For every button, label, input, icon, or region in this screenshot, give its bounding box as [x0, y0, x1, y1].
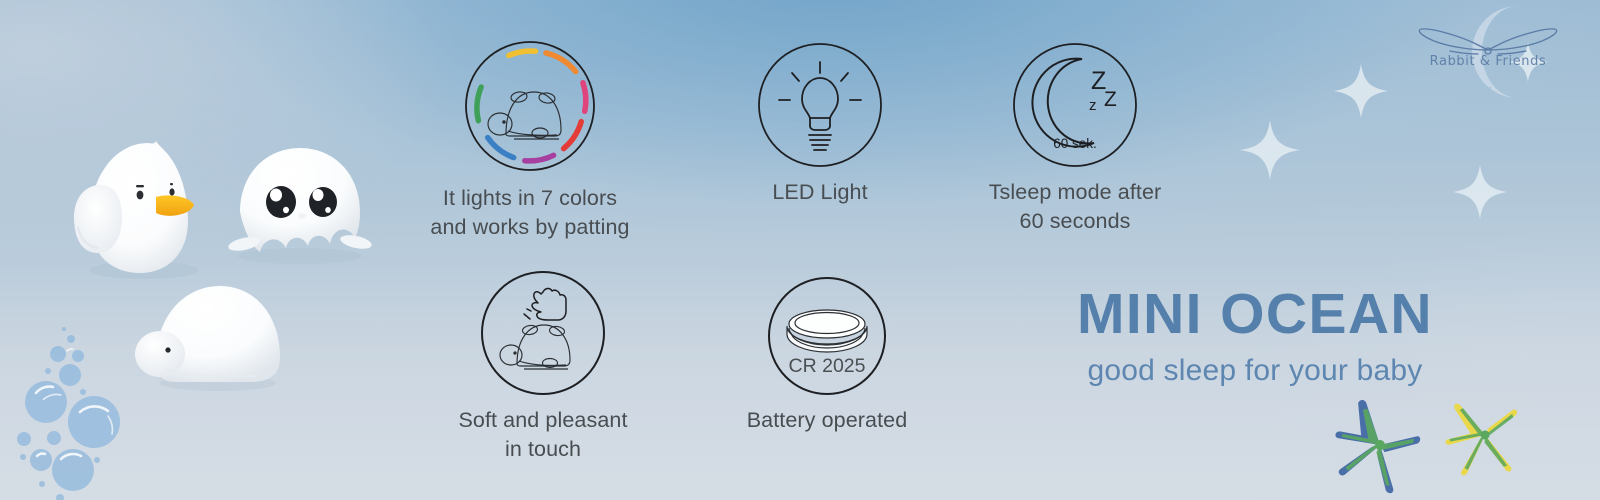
- feature-led-light[interactable]: LED Light: [725, 42, 915, 207]
- product-octopus-night-light: [218, 140, 378, 270]
- starfish-yellow: [1440, 390, 1530, 480]
- moon-z-small: z: [1089, 97, 1097, 114]
- feature-caption: It lights in 7 colors and works by patti…: [430, 184, 630, 242]
- brand-logo[interactable]: Rabbit & Friends: [1398, 2, 1578, 102]
- brand-block: MINI OCEAN good sleep for your baby: [1055, 283, 1455, 391]
- sparkle-icon: [1240, 120, 1300, 180]
- feature-caption: Soft and pleasant in touch: [443, 406, 643, 464]
- page-title: MINI OCEAN: [1055, 283, 1455, 345]
- feature-caption: Tsleep mode after 60 seconds: [975, 178, 1175, 236]
- hand-tapping-turtle-icon: [480, 270, 606, 396]
- product-duck-night-light: [52, 135, 232, 285]
- feature-battery[interactable]: CR 2025 Battery operated: [727, 276, 927, 435]
- battery-model-label: CR 2025: [789, 355, 866, 377]
- sleep-duration-label: 60 sek.: [1053, 136, 1097, 151]
- moon-zzz-icon: Z Z z 60 sek.: [1012, 42, 1138, 168]
- feature-caption: Battery operated: [727, 406, 927, 435]
- sparkle-icon: [1334, 64, 1388, 118]
- feature-sleep-mode[interactable]: Z Z z 60 sek. Tsleep mode after 60 secon…: [975, 42, 1175, 236]
- feature-list: It lights in 7 colors and works by patti…: [430, 38, 1170, 468]
- lightbulb-icon: [757, 42, 883, 168]
- feature-soft-touch[interactable]: Soft and pleasant in touch: [443, 270, 643, 464]
- product-banner: Rabbit & Friends: [0, 0, 1600, 500]
- bubbles-decoration: [15, 312, 155, 500]
- logo-text: Rabbit & Friends: [1398, 54, 1578, 69]
- color-ring-turtle-icon: [462, 38, 598, 174]
- sparkle-icon: [1453, 165, 1507, 219]
- feature-seven-colors[interactable]: It lights in 7 colors and works by patti…: [430, 38, 630, 242]
- starfish-blue: [1330, 395, 1430, 495]
- page-subtitle: good sleep for your baby: [1055, 351, 1455, 391]
- coin-battery-icon: CR 2025: [767, 276, 887, 396]
- moon-z-medium: Z: [1104, 88, 1117, 111]
- feature-caption: LED Light: [725, 178, 915, 207]
